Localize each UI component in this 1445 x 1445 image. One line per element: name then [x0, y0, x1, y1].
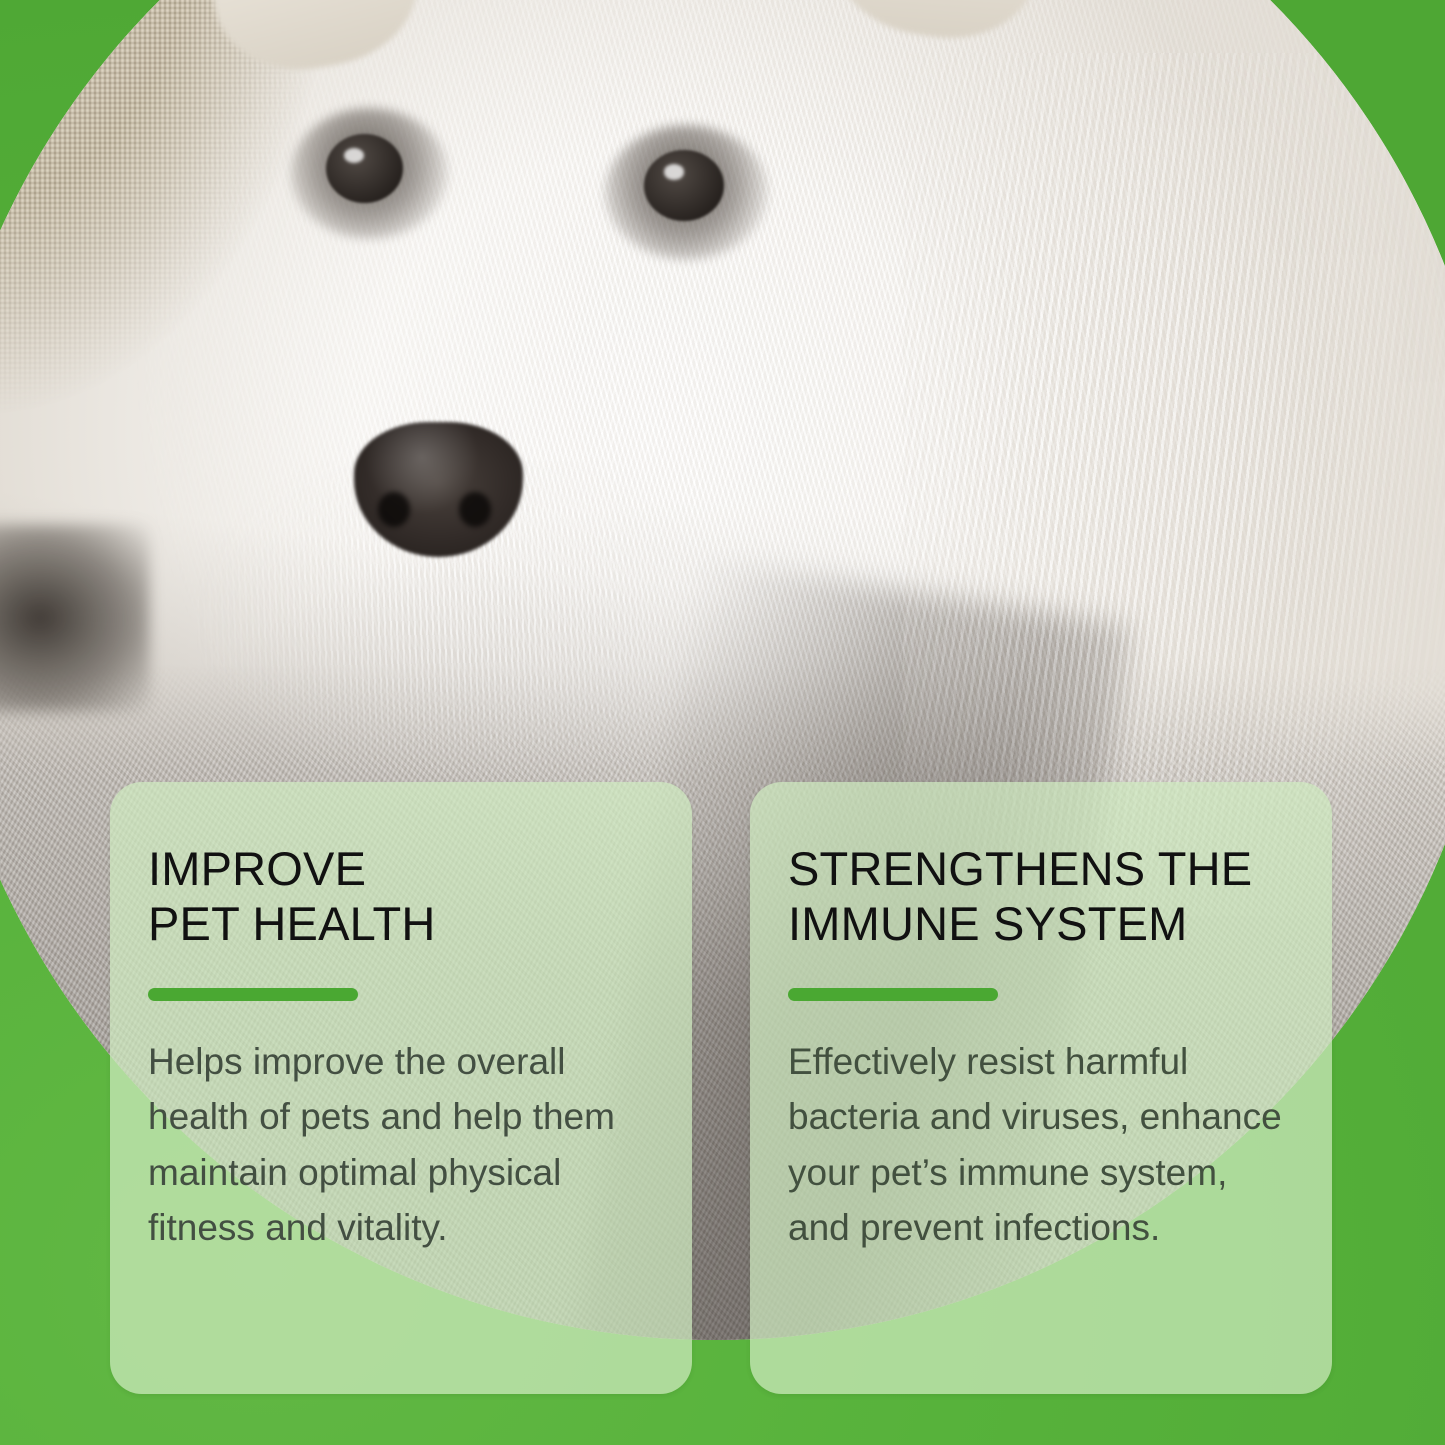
benefit-card-improve-pet-health: IMPROVE PET HEALTH Helps improve the ove…	[110, 782, 692, 1394]
dog-right-eye	[644, 150, 724, 221]
dog-paw-shadow	[0, 524, 150, 712]
promo-banner: IMPROVE PET HEALTH Helps improve the ove…	[0, 0, 1445, 1445]
card-title: IMPROVE PET HEALTH	[148, 842, 648, 952]
eye-glint	[664, 164, 685, 180]
dog-left-eye	[326, 134, 403, 203]
dog-nostril-right	[459, 492, 491, 527]
accent-bar	[148, 988, 358, 1001]
eye-glint	[344, 148, 364, 163]
accent-bar	[788, 988, 998, 1001]
card-body-text: Effectively resist harmful bacteria and …	[788, 1034, 1288, 1256]
benefit-cards: IMPROVE PET HEALTH Helps improve the ove…	[110, 782, 1332, 1394]
card-body-text: Helps improve the overall health of pets…	[148, 1034, 648, 1256]
dog-nostril-left	[378, 492, 410, 527]
benefit-card-strengthens-immune-system: STRENGTHENS THE IMMUNE SYSTEM Effectivel…	[750, 782, 1332, 1394]
card-title: STRENGTHENS THE IMMUNE SYSTEM	[788, 842, 1288, 952]
